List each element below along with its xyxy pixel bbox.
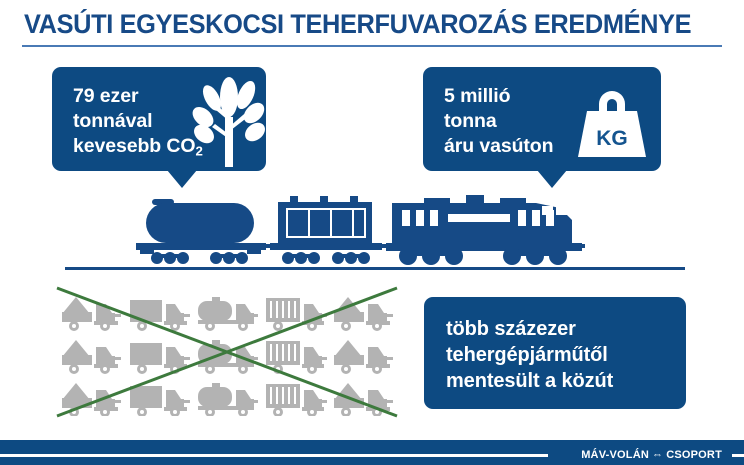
- callout-co2-line3: kevesebb CO: [73, 135, 195, 157]
- truck-icon: [334, 383, 393, 416]
- truck-icon: [62, 383, 121, 416]
- truck-icon: [198, 340, 258, 374]
- truck-icon: [266, 384, 327, 416]
- train-illustration: [0, 186, 744, 276]
- infographic-root: VASÚTI EGYESKOCSI TEHERFUVAROZÁS EREDMÉN…: [0, 0, 744, 465]
- diesel-locomotive: [386, 195, 585, 265]
- link-symbol-icon: ⇔: [652, 449, 663, 461]
- truck-icon: [130, 343, 190, 374]
- footer-rule-right: [732, 454, 744, 457]
- brand-logo-left: MÁV-VOLÁN: [581, 449, 649, 461]
- callout-kozut: több százezertehergépjárműtőlmentesült a…: [424, 297, 686, 409]
- truck-icon: [334, 297, 393, 331]
- callout-tonna: 5 milliótonnaáru vasúton KG: [423, 67, 661, 171]
- truck-grid-svg: [60, 288, 400, 416]
- weight-kg-icon: KG: [573, 87, 651, 159]
- truck-icon: [266, 298, 327, 331]
- callout-kozut-line2: tehergépjárműtől: [446, 344, 608, 366]
- brand-logo-right: CSOPORT: [666, 449, 722, 461]
- truck-icon: [198, 383, 258, 416]
- callout-co2: 79 ezertonnávalkevesebb CO2: [52, 67, 266, 171]
- truck-grid: [60, 288, 400, 416]
- callout-co2-line1: 79 ezer: [73, 85, 138, 107]
- truck-icon: [62, 340, 121, 374]
- title-divider: [22, 45, 722, 47]
- callout-kozut-line1: több százezer: [446, 318, 576, 340]
- truck-icon: [62, 297, 121, 331]
- truck-icon: [130, 386, 190, 416]
- rail-line: [65, 267, 685, 270]
- callout-tonna-text: 5 milliótonnaáru vasúton: [444, 84, 553, 159]
- brand-logo: MÁV-VOLÁN ⇔ CSOPORT: [581, 449, 722, 461]
- tree-icon: [192, 75, 266, 167]
- callout-co2-line2: tonnával: [73, 110, 152, 132]
- train-svg: [0, 186, 744, 276]
- callout-tonna-line2: tonna: [444, 110, 497, 132]
- tank-wagon: [136, 199, 266, 264]
- callout-kozut-text: több százezertehergépjárműtőlmentesült a…: [446, 316, 613, 394]
- callout-tonna-line3: áru vasúton: [444, 135, 553, 157]
- callout-kozut-line3: mentesült a közút: [446, 370, 613, 392]
- truck-icon: [334, 340, 393, 374]
- truck-icon: [130, 300, 190, 331]
- page-title: VASÚTI EGYESKOCSI TEHERFUVAROZÁS EREDMÉN…: [24, 9, 682, 40]
- weight-kg-label: KG: [596, 127, 628, 150]
- callout-co2-text: 79 ezertonnávalkevesebb CO2: [73, 84, 203, 164]
- truck-icon: [198, 297, 258, 331]
- callout-tonna-line1: 5 millió: [444, 85, 510, 107]
- truck-icon: [266, 341, 327, 374]
- footer-rule-left: [0, 454, 548, 457]
